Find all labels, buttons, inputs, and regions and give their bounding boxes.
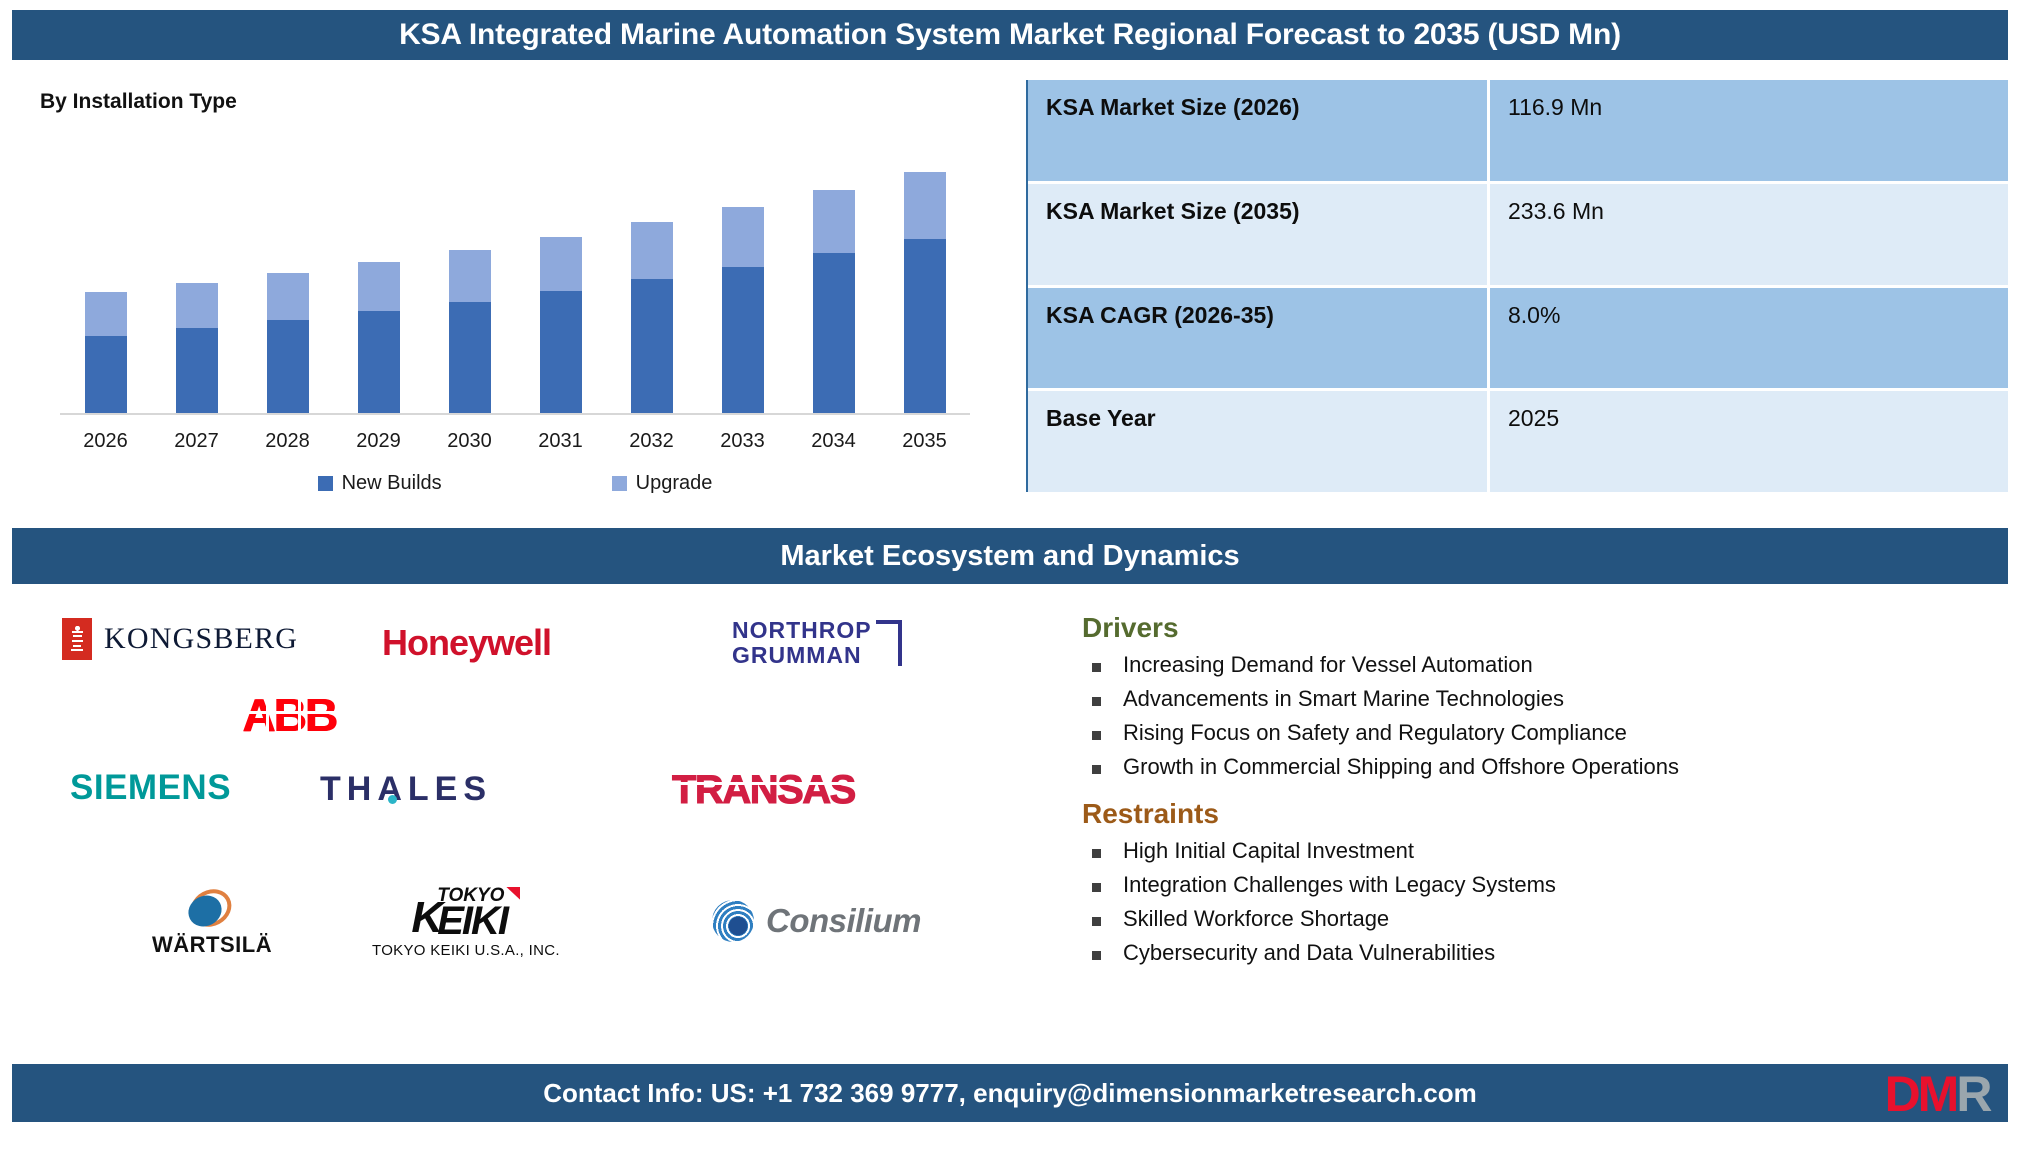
logo-consilium: Consilium <box>712 900 921 942</box>
bar-segment-upgrade <box>722 207 764 267</box>
kpi-label-text: Base Year <box>1046 405 1156 432</box>
northrop-line2: GRUMMAN <box>732 643 872 668</box>
x-axis-tick-label: 2033 <box>697 430 788 453</box>
drivers-heading: Drivers <box>1082 612 1992 644</box>
bar-segment-new-builds <box>449 302 491 413</box>
table-cell-value: 233.6 Mn <box>1490 184 2008 285</box>
table-row: KSA Market Size (2035)233.6 Mn <box>1028 184 2008 288</box>
dmr-letter-m: M <box>1918 1065 1957 1123</box>
kpi-value-text: 2025 <box>1508 405 1559 432</box>
bar-segment-upgrade <box>176 283 218 329</box>
bar-segment-upgrade <box>358 262 400 312</box>
bar-segment-upgrade <box>540 237 582 292</box>
bar-stack <box>904 172 946 413</box>
kongsberg-crest-icon <box>62 618 92 660</box>
thales-dot-icon <box>388 795 397 804</box>
bar-stack <box>540 237 582 413</box>
x-axis-tick-label: 2031 <box>515 430 606 453</box>
bar-segment-new-builds <box>904 239 946 413</box>
logo-honeywell: Honeywell <box>382 622 551 664</box>
kpi-label-text: KSA Market Size (2026) <box>1046 94 1300 121</box>
kongsberg-wordmark: KONGSBERG <box>104 622 298 656</box>
keiki-eiki-word: EIKI <box>437 903 507 939</box>
bar-segment-new-builds <box>631 279 673 413</box>
restraints-heading: Restraints <box>1082 798 1992 830</box>
driver-item: Growth in Commercial Shipping and Offsho… <box>1082 750 1992 784</box>
x-axis-tick-label: 2028 <box>242 430 333 453</box>
legend-item[interactable]: New Builds <box>318 472 442 495</box>
chart-heading: By Installation Type <box>40 90 237 114</box>
page-title: KSA Integrated Marine Automation System … <box>399 18 1621 52</box>
logo-kongsberg: KONGSBERG <box>62 618 298 660</box>
x-axis-tick-label: 2026 <box>60 430 151 453</box>
restraint-item: High Initial Capital Investment <box>1082 834 1992 868</box>
northrop-bracket-icon <box>876 620 902 666</box>
driver-item: Advancements in Smart Marine Technologie… <box>1082 682 1992 716</box>
bar-slot <box>606 165 697 413</box>
bullet-icon <box>1092 849 1101 858</box>
driver-item: Rising Focus on Safety and Regulatory Co… <box>1082 716 1992 750</box>
keiki-subtitle: TOKYO KEIKI U.S.A., INC. <box>372 942 560 959</box>
bar-segment-upgrade <box>631 222 673 279</box>
bullet-icon <box>1092 951 1101 960</box>
transas-wordmark: TRANSAS <box>672 768 855 813</box>
table-row: Base Year2025 <box>1028 391 2008 492</box>
bar-stack <box>722 207 764 413</box>
table-cell-label: Base Year <box>1028 391 1490 492</box>
chart-plot-area: 2026202720282029203020312032203320342035 <box>60 167 970 467</box>
restraint-item-text: Skilled Workforce Shortage <box>1123 906 1389 932</box>
bar-segment-new-builds <box>176 328 218 413</box>
bar-segment-upgrade <box>449 250 491 302</box>
contact-info: Contact Info: US: +1 732 369 9777, enqui… <box>543 1078 1477 1109</box>
bullet-icon <box>1092 663 1101 672</box>
ecosystem-banner: Market Ecosystem and Dynamics <box>12 528 2008 584</box>
legend-swatch-icon <box>612 476 627 491</box>
driver-item: Increasing Demand for Vessel Automation <box>1082 648 1992 682</box>
bar-segment-new-builds <box>540 291 582 413</box>
legend-label: New Builds <box>342 472 442 495</box>
bar-stack <box>358 262 400 413</box>
bar-segment-new-builds <box>722 267 764 413</box>
logo-thales: THALES <box>320 770 492 809</box>
consilium-wordmark: Consilium <box>766 902 921 940</box>
table-row: KSA CAGR (2026-35)8.0% <box>1028 288 2008 392</box>
kpi-label-text: KSA Market Size (2035) <box>1046 198 1300 225</box>
wartsila-wordmark: WÄRTSILÄ <box>152 932 272 958</box>
table-cell-value: 8.0% <box>1490 288 2008 389</box>
chart-legend: New BuildsUpgrade <box>60 472 970 495</box>
company-logo-grid: KONGSBERG Honeywell NORTHROP GRUMMAN ABB… <box>12 600 1042 1040</box>
bar-slot <box>788 165 879 413</box>
table-cell-label: KSA CAGR (2026-35) <box>1028 288 1490 389</box>
x-axis-tick-label: 2030 <box>424 430 515 453</box>
logo-wartsila: WÄRTSILÄ <box>152 888 272 958</box>
kpi-value-text: 233.6 Mn <box>1508 198 1604 225</box>
legend-item[interactable]: Upgrade <box>612 472 713 495</box>
bar-slot <box>879 165 970 413</box>
table-cell-label: KSA Market Size (2026) <box>1028 80 1490 181</box>
drivers-list: Increasing Demand for Vessel AutomationA… <box>1082 648 1992 784</box>
bullet-icon <box>1092 731 1101 740</box>
honeywell-wordmark: Honeywell <box>382 622 551 664</box>
driver-item-text: Increasing Demand for Vessel Automation <box>1123 652 1533 678</box>
logo-tokyo-keiki: K TOKYO EIKI TOKYO KEIKI U.S.A., INC. <box>372 885 560 959</box>
bar-segment-new-builds <box>813 253 855 413</box>
thales-wordmark: THALES <box>320 770 492 809</box>
bar-segment-upgrade <box>85 292 127 336</box>
driver-item-text: Growth in Commercial Shipping and Offsho… <box>1123 754 1679 780</box>
table-row: KSA Market Size (2026)116.9 Mn <box>1028 80 2008 184</box>
driver-item-text: Advancements in Smart Marine Technologie… <box>1123 686 1564 712</box>
restraint-item: Cybersecurity and Data Vulnerabilities <box>1082 936 1992 970</box>
bullet-icon <box>1092 883 1101 892</box>
bar-slot <box>515 165 606 413</box>
kpi-table: KSA Market Size (2026)116.9 MnKSA Market… <box>1026 80 2008 492</box>
bar-slot <box>424 165 515 413</box>
bar-slot <box>151 165 242 413</box>
bullet-icon <box>1092 697 1101 706</box>
wartsila-swirl-icon <box>186 888 238 928</box>
bullet-icon <box>1092 765 1101 774</box>
keiki-tokyo-word: TOKYO <box>437 885 520 907</box>
x-axis-tick-label: 2032 <box>606 430 697 453</box>
x-axis-tick-label: 2034 <box>788 430 879 453</box>
x-axis-line <box>60 413 970 415</box>
restraint-item: Integration Challenges with Legacy Syste… <box>1082 868 1992 902</box>
bar-segment-new-builds <box>267 320 309 413</box>
driver-item-text: Rising Focus on Safety and Regulatory Co… <box>1123 720 1627 746</box>
bar-stack <box>631 222 673 413</box>
restraint-item-text: Integration Challenges with Legacy Syste… <box>1123 872 1556 898</box>
table-cell-value: 116.9 Mn <box>1490 80 2008 181</box>
table-cell-label: KSA Market Size (2035) <box>1028 184 1490 285</box>
kpi-value-text: 8.0% <box>1508 302 1560 329</box>
restraint-item-text: Cybersecurity and Data Vulnerabilities <box>1123 940 1495 966</box>
kpi-value-text: 116.9 Mn <box>1508 94 1602 121</box>
bar-stack <box>176 283 218 413</box>
bullet-icon <box>1092 917 1101 926</box>
bar-stack <box>85 292 127 413</box>
legend-swatch-icon <box>318 476 333 491</box>
restraint-item: Skilled Workforce Shortage <box>1082 902 1992 936</box>
dmr-logo: DMR <box>1868 1066 2006 1122</box>
market-dynamics: Drivers Increasing Demand for Vessel Aut… <box>1082 612 1992 970</box>
bar-segment-upgrade <box>267 273 309 321</box>
bar-stack <box>267 273 309 413</box>
kpi-label-text: KSA CAGR (2026-35) <box>1046 302 1274 329</box>
consilium-globe-icon <box>712 900 754 942</box>
bar-slot <box>60 165 151 413</box>
x-axis-tick-label: 2027 <box>151 430 242 453</box>
logo-siemens: SIEMENS <box>70 768 231 808</box>
northrop-line1: NORTHROP <box>732 618 872 643</box>
installation-type-chart-panel: By Installation Type 2026202720282029203… <box>12 72 978 492</box>
bar-segment-upgrade <box>813 190 855 252</box>
ecosystem-banner-label: Market Ecosystem and Dynamics <box>780 540 1239 573</box>
footer-bar: Contact Info: US: +1 732 369 9777, enqui… <box>12 1064 2008 1122</box>
page-title-bar: KSA Integrated Marine Automation System … <box>12 10 2008 60</box>
dmr-letter-r: R <box>1956 1065 1989 1123</box>
logo-northrop-grumman: NORTHROP GRUMMAN <box>732 618 902 668</box>
bar-group <box>60 165 970 413</box>
legend-label: Upgrade <box>636 472 713 495</box>
logo-abb: ABB <box>242 688 336 742</box>
bar-slot <box>242 165 333 413</box>
x-axis-tick-label: 2029 <box>333 430 424 453</box>
infographic-page: KSA Integrated Marine Automation System … <box>0 0 2020 1156</box>
logo-transas: TRANSAS <box>672 768 855 813</box>
bar-slot <box>697 165 788 413</box>
siemens-wordmark: SIEMENS <box>70 768 231 808</box>
bar-stack <box>813 190 855 413</box>
x-axis-tick-label: 2035 <box>879 430 970 453</box>
bar-segment-upgrade <box>904 172 946 240</box>
restraint-item-text: High Initial Capital Investment <box>1123 838 1414 864</box>
dmr-letter-d: D <box>1885 1065 1918 1123</box>
bar-stack <box>449 250 491 413</box>
x-axis-labels: 2026202720282029203020312032203320342035 <box>60 430 970 453</box>
abb-wordmark: ABB <box>242 688 336 742</box>
restraints-list: High Initial Capital InvestmentIntegrati… <box>1082 834 1992 970</box>
bar-slot <box>333 165 424 413</box>
bar-segment-new-builds <box>85 336 127 413</box>
table-cell-value: 2025 <box>1490 391 2008 492</box>
bar-segment-new-builds <box>358 311 400 413</box>
